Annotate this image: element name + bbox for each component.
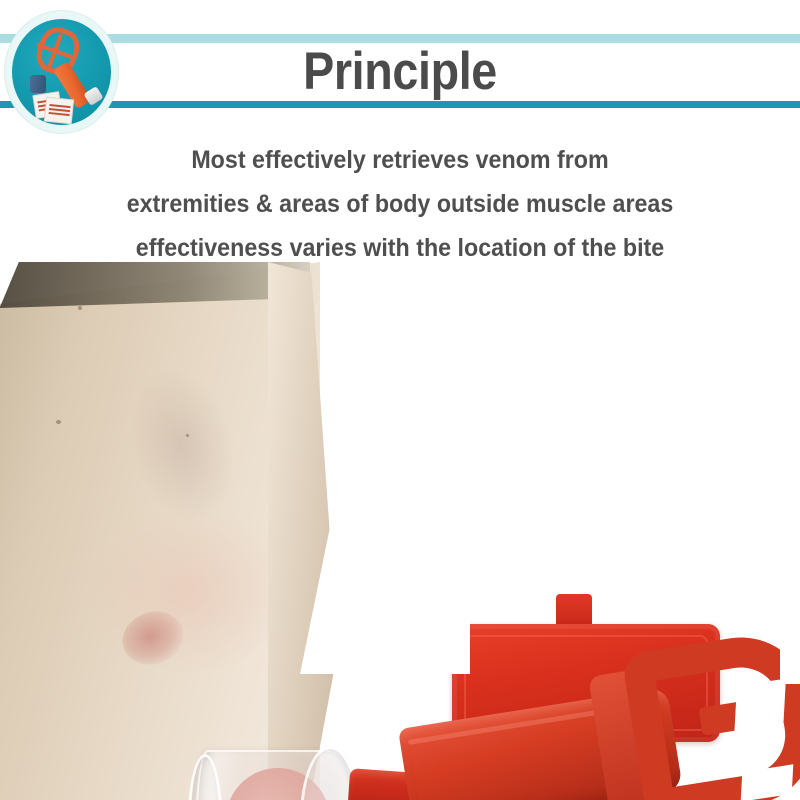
arm-edge-highlight: [268, 262, 338, 800]
case-latch-tab: [556, 594, 592, 628]
infographic-page: Principle Most effectively retrieves ven…: [0, 0, 800, 800]
skin-freckle: [56, 420, 61, 424]
subtitle-line-1: Most effectively retrieves venom from: [28, 138, 772, 182]
badge-blue-cup-icon: [30, 75, 46, 93]
subtitle-block: Most effectively retrieves venom from ex…: [0, 138, 800, 262]
subtitle-line-3: effectiveness varies with the location o…: [28, 226, 772, 262]
page-title: Principle: [48, 40, 752, 103]
skin-freckle: [186, 434, 189, 437]
handle-ring-gap: [734, 679, 786, 738]
subtitle-line-2: extremities & areas of body outside musc…: [28, 182, 772, 226]
badge-alcohol-pad-text-lines-2: [49, 104, 70, 108]
header-section: Principle Most effectively retrieves ven…: [0, 0, 800, 262]
photo-right-edge-fill: [780, 524, 800, 684]
skin-freckle: [78, 306, 82, 310]
product-photo: ol Pad FOR PROFESSIONAL AND HOSP FOR PRO…: [0, 262, 800, 800]
